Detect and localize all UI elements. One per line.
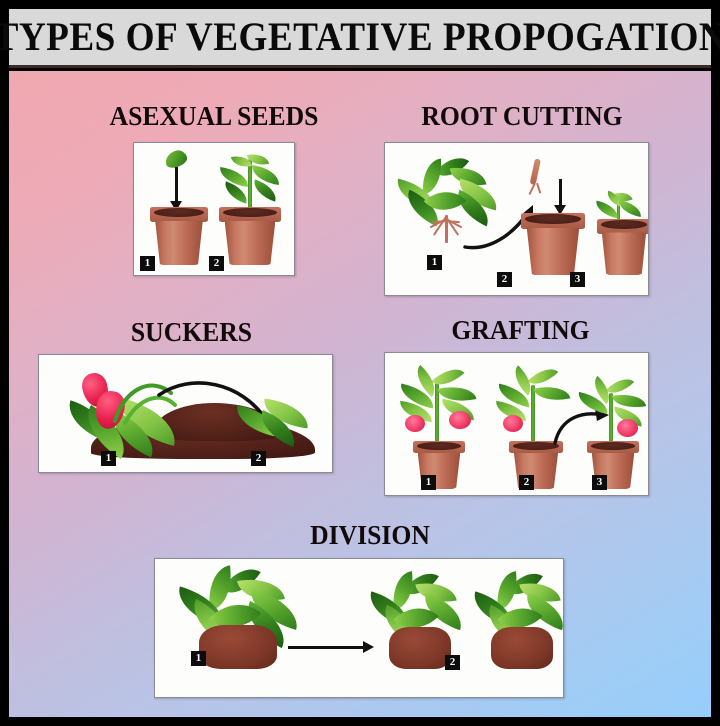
step-chip: 1 xyxy=(427,255,442,270)
daughter-plant xyxy=(235,401,327,449)
division-rootball-1 xyxy=(199,625,277,669)
section-heading-suckers: SUCKERS xyxy=(70,319,312,346)
step-chip: 1 xyxy=(191,651,206,666)
step-chip: 2 xyxy=(209,256,224,271)
panel-suckers: 1 2 xyxy=(38,354,333,473)
infographic-poster: TYPES OF VEGETATIVE PROPOGATION ASEXUAL … xyxy=(0,0,720,726)
section-heading-asexual-seeds: ASEXUAL SEEDS xyxy=(76,103,352,130)
grafted-plant xyxy=(575,377,649,451)
section-heading-grafting: GRAFTING xyxy=(409,317,632,344)
panel-division: 1 2 xyxy=(154,558,564,698)
step-chip: 1 xyxy=(140,256,155,271)
step-chip: 2 xyxy=(445,655,460,670)
empty-pot xyxy=(150,207,208,265)
pot-with-rooted-plant xyxy=(597,219,649,275)
step-chip: 1 xyxy=(101,451,116,466)
step-chip: 3 xyxy=(570,272,585,287)
poster-body: ASEXUAL SEEDS xyxy=(9,71,711,717)
poster-title-bar: TYPES OF VEGETATIVE PROPOGATION xyxy=(9,9,711,68)
right-arrow-icon xyxy=(288,639,374,655)
seedling xyxy=(218,149,284,213)
down-arrow-icon xyxy=(553,179,567,215)
step-chip: 3 xyxy=(592,475,607,490)
poster-title: TYPES OF VEGETATIVE PROPOGATION xyxy=(0,17,720,57)
section-heading-division: DIVISION xyxy=(256,522,484,549)
down-arrow-icon xyxy=(169,167,183,211)
panel-asexual-seeds: 1 2 xyxy=(133,142,295,276)
root-cutting-piece xyxy=(521,159,555,199)
division-rootball-2 xyxy=(389,627,451,669)
pot-receiving-cutting xyxy=(521,213,585,275)
division-rootball-3 xyxy=(491,627,553,669)
step-chip: 2 xyxy=(519,475,534,490)
panel-root-cutting: 1 2 3 xyxy=(384,142,649,296)
step-chip: 2 xyxy=(497,272,512,287)
section-heading-root-cutting: ROOT CUTTING xyxy=(394,103,651,130)
panel-grafting: 1 2 3 xyxy=(384,352,649,496)
step-chip: 1 xyxy=(421,475,436,490)
step-chip: 2 xyxy=(251,451,266,466)
pot-with-seedling xyxy=(219,207,281,265)
grafting-plant-whole xyxy=(393,365,481,451)
